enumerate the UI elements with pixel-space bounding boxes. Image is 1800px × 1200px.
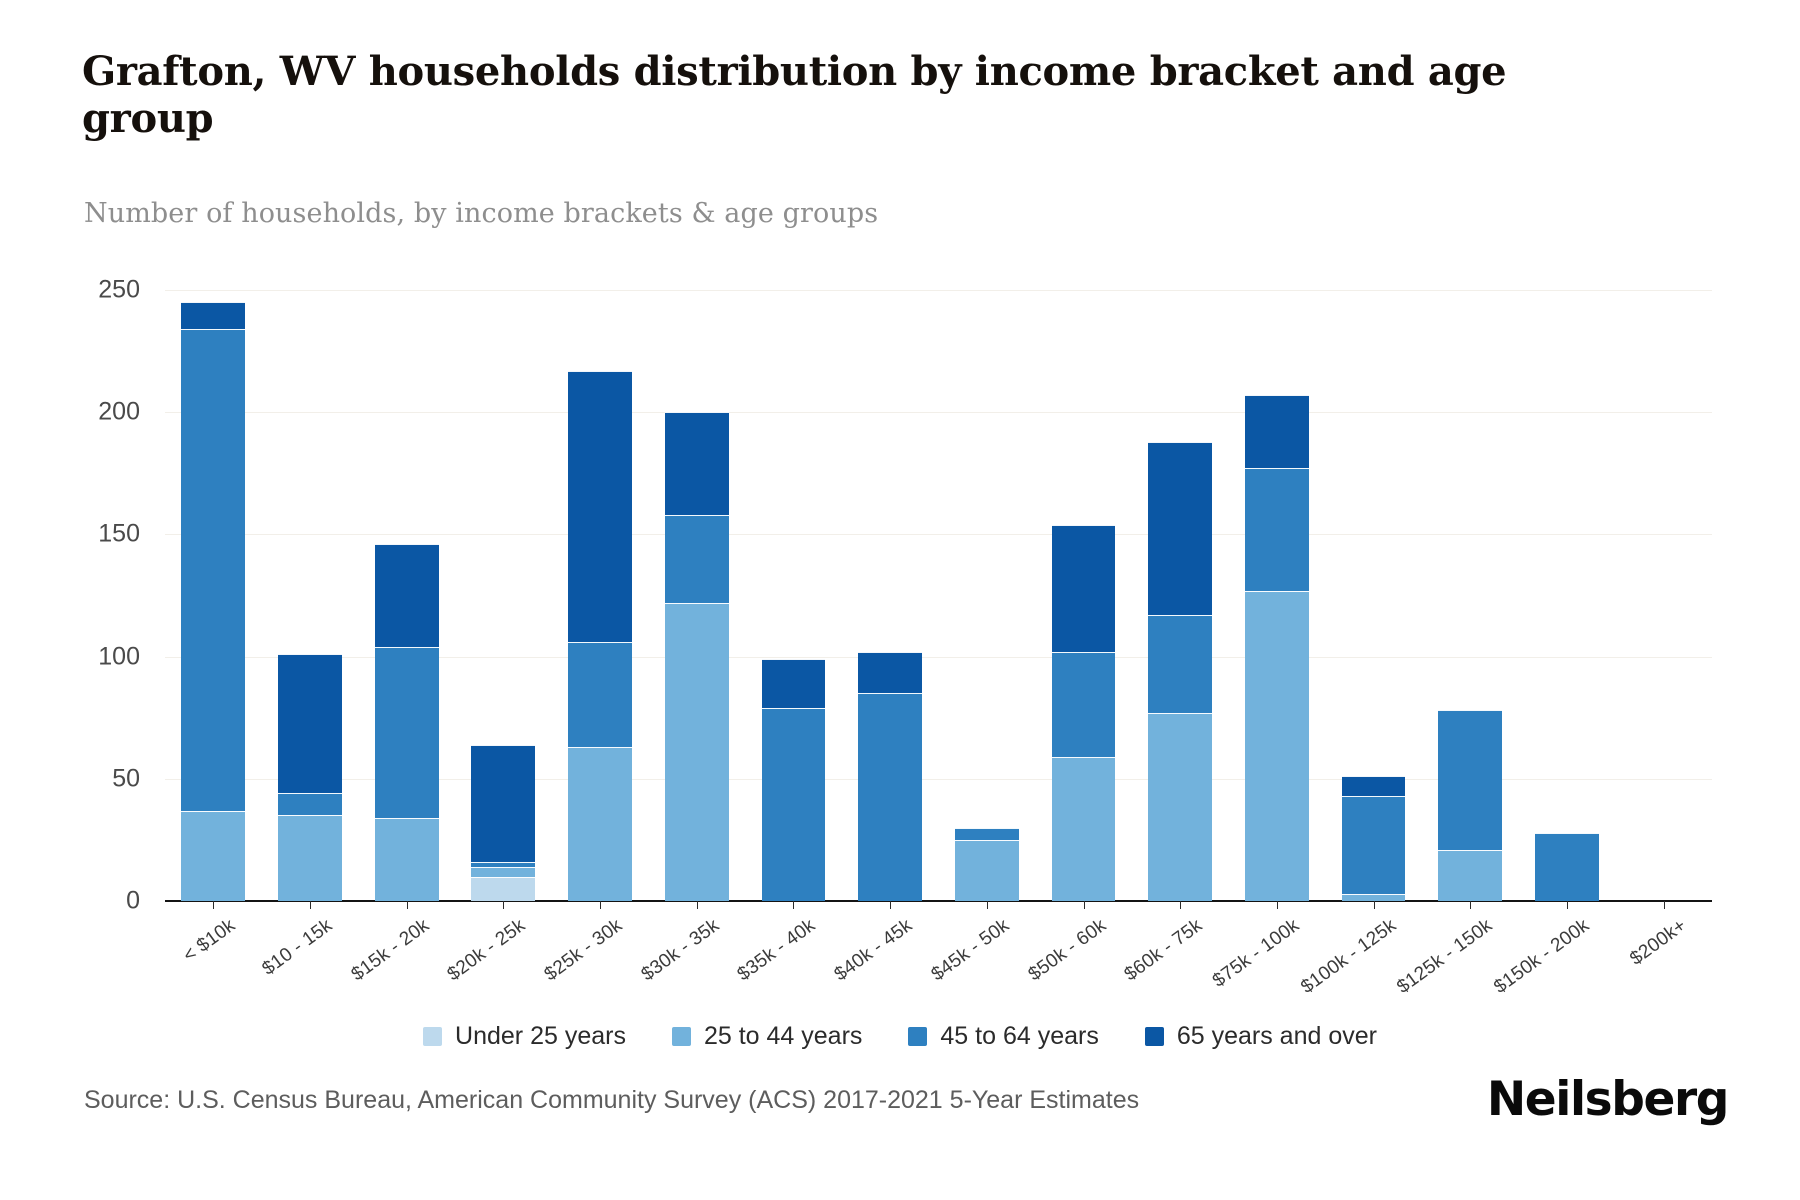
x-axis-label: $75k - 100k [1209, 915, 1304, 992]
bar-group[interactable] [1438, 250, 1502, 901]
bar-segment[interactable] [375, 818, 439, 901]
bar-group[interactable] [1052, 250, 1116, 901]
bar-segment[interactable] [1148, 615, 1212, 713]
x-axis-label: $30k - 35k [637, 915, 723, 986]
stacked-bar[interactable] [1148, 442, 1212, 901]
bar-segment[interactable] [1245, 395, 1309, 468]
bar-segment[interactable] [665, 603, 729, 901]
bar-segment[interactable] [1148, 442, 1212, 616]
x-axis-label: < $10k [180, 915, 240, 967]
bar-group[interactable] [1342, 250, 1406, 901]
bar-segment[interactable] [471, 877, 535, 901]
bar-segment[interactable] [665, 515, 729, 603]
x-axis-tick [503, 901, 504, 909]
bar-group[interactable] [278, 250, 342, 901]
bar-segment[interactable] [278, 815, 342, 901]
stacked-bar[interactable] [278, 654, 342, 901]
legend-label: 25 to 44 years [704, 1022, 862, 1051]
bar-segment[interactable] [955, 840, 1019, 901]
bar-segment[interactable] [858, 693, 922, 901]
x-axis-label: $45k - 50k [927, 915, 1013, 986]
bar-group[interactable] [568, 250, 632, 901]
bar-segment[interactable] [568, 371, 632, 642]
y-axis-tick-label: 200 [40, 398, 140, 427]
brand-logo: Neilsberg [1487, 1072, 1728, 1127]
stacked-bar[interactable] [1438, 710, 1502, 901]
chart-legend: Under 25 years25 to 44 years45 to 64 yea… [0, 1022, 1800, 1051]
x-axis-label: $150k - 200k [1490, 915, 1594, 999]
x-axis-tick [1664, 901, 1665, 909]
x-axis-tick [1180, 901, 1181, 909]
x-axis-label: $15k - 20k [347, 915, 433, 986]
bar-segment[interactable] [955, 828, 1019, 840]
bar-segment[interactable] [375, 647, 439, 818]
stacked-bar[interactable] [568, 371, 632, 901]
bar-segment[interactable] [471, 745, 535, 862]
bar-segment[interactable] [1052, 652, 1116, 757]
bar-segment[interactable] [375, 544, 439, 647]
stacked-bar[interactable] [1245, 395, 1309, 901]
x-axis-tick [1374, 901, 1375, 909]
x-axis-tick [987, 901, 988, 909]
legend-swatch-icon [1145, 1027, 1164, 1046]
stacked-bar[interactable] [665, 412, 729, 901]
bar-segment[interactable] [1342, 796, 1406, 894]
y-axis-tick-label: 50 [40, 764, 140, 793]
bar-segment[interactable] [762, 659, 826, 708]
y-axis-tick-label: 0 [40, 887, 140, 916]
bar-segment[interactable] [278, 654, 342, 793]
legend-swatch-icon [423, 1027, 442, 1046]
x-axis-tick [407, 901, 408, 909]
x-axis-tick [310, 901, 311, 909]
x-axis-label: $200k+ [1626, 915, 1691, 970]
bar-segment[interactable] [1342, 894, 1406, 901]
bar-segment[interactable] [1052, 525, 1116, 652]
bar-group[interactable] [1148, 250, 1212, 901]
bar-segment[interactable] [1342, 776, 1406, 796]
stacked-bar[interactable] [375, 544, 439, 901]
bar-group[interactable] [375, 250, 439, 901]
x-axis-tick [793, 901, 794, 909]
x-axis-tick [1567, 901, 1568, 909]
stacked-bar[interactable] [1535, 833, 1599, 901]
x-axis-tick [697, 901, 698, 909]
bar-segment[interactable] [1535, 833, 1599, 901]
bar-group[interactable] [1632, 250, 1696, 901]
bar-segment[interactable] [1148, 713, 1212, 901]
bar-segment[interactable] [1438, 850, 1502, 901]
x-axis-label: $35k - 40k [734, 915, 820, 986]
legend-label: 45 to 64 years [940, 1022, 1098, 1051]
plot-area: 050100150200250 < $10k$10 - 15k$15k - 20… [0, 0, 1800, 1200]
legend-item[interactable]: Under 25 years [423, 1022, 626, 1051]
x-axis-tick [600, 901, 601, 909]
bar-segment[interactable] [181, 329, 245, 810]
chart-page: Grafton, WV households distribution by i… [0, 0, 1800, 1200]
x-axis-label: $50k - 60k [1024, 915, 1110, 986]
x-axis-label: $60k - 75k [1121, 915, 1207, 986]
y-axis-tick-label: 150 [40, 520, 140, 549]
stacked-bar[interactable] [955, 828, 1019, 901]
bar-group[interactable] [471, 250, 535, 901]
stacked-bar[interactable] [471, 745, 535, 901]
x-axis-tick [1470, 901, 1471, 909]
stacked-bar[interactable] [858, 652, 922, 901]
bar-group[interactable] [858, 250, 922, 901]
bar-segment[interactable] [568, 747, 632, 901]
x-axis-tick [1084, 901, 1085, 909]
legend-swatch-icon [908, 1027, 927, 1046]
bar-segment[interactable] [1438, 710, 1502, 849]
bar-group[interactable] [181, 250, 245, 901]
legend-item[interactable]: 25 to 44 years [672, 1022, 862, 1051]
bar-segment[interactable] [1052, 757, 1116, 901]
x-axis-tick [890, 901, 891, 909]
x-axis-label: $25k - 30k [541, 915, 627, 986]
x-axis-label: $40k - 45k [831, 915, 917, 986]
x-axis-tick [213, 901, 214, 909]
x-axis-label: $100k - 125k [1297, 915, 1401, 999]
bar-segment[interactable] [1245, 468, 1309, 590]
y-axis-tick-label: 250 [40, 276, 140, 305]
bars-layer [165, 250, 1712, 901]
bar-group[interactable] [1535, 250, 1599, 901]
bar-group[interactable] [665, 250, 729, 901]
bar-group[interactable] [1245, 250, 1309, 901]
source-note: Source: U.S. Census Bureau, American Com… [84, 1086, 1139, 1115]
x-axis-tick [1277, 901, 1278, 909]
stacked-bar[interactable] [762, 659, 826, 901]
bar-segment[interactable] [278, 793, 342, 815]
x-axis-label: $20k - 25k [444, 915, 530, 986]
bar-segment[interactable] [181, 302, 245, 329]
bar-segment[interactable] [1245, 591, 1309, 901]
legend-label: Under 25 years [455, 1022, 626, 1051]
stacked-bar[interactable] [1342, 776, 1406, 901]
bar-group[interactable] [955, 250, 1019, 901]
bar-group[interactable] [762, 250, 826, 901]
y-axis-tick-label: 100 [40, 642, 140, 671]
bar-segment[interactable] [471, 867, 535, 877]
stacked-bar[interactable] [181, 302, 245, 901]
stacked-bar[interactable] [1052, 525, 1116, 901]
bar-segment[interactable] [181, 811, 245, 901]
bar-segment[interactable] [858, 652, 922, 694]
legend-swatch-icon [672, 1027, 691, 1046]
legend-item[interactable]: 65 years and over [1145, 1022, 1377, 1051]
bar-segment[interactable] [762, 708, 826, 901]
bar-segment[interactable] [568, 642, 632, 747]
x-axis-label: $125k - 150k [1393, 915, 1497, 999]
legend-item[interactable]: 45 to 64 years [908, 1022, 1098, 1051]
bar-segment[interactable] [665, 412, 729, 515]
x-axis-label: $10 - 15k [258, 915, 336, 980]
legend-label: 65 years and over [1177, 1022, 1377, 1051]
